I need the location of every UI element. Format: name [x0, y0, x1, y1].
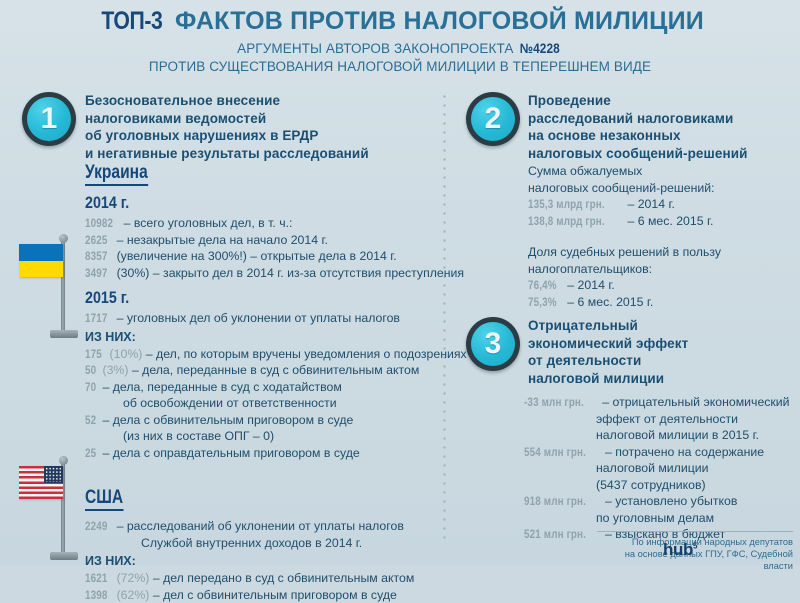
page-title: ТОП-3 ФАКТОВ ПРОТИВ НАЛОГОВОЙ МИЛИЦИИ — [0, 6, 800, 36]
data-row: 918 млн грн. – установлено убытков — [524, 493, 796, 510]
badge-2-number: 2 — [485, 104, 502, 134]
row-text: Службой внутренних доходов в 2014 г. — [141, 536, 362, 550]
data-row: 52 – дела с обвинительным приговором в с… — [85, 412, 435, 429]
usa-flag — [14, 460, 84, 565]
section-3-heading: Отрицательный экономический эффект от де… — [528, 317, 793, 387]
hub-logo-text: hub — [663, 540, 693, 559]
year-label-2015: 2015 г. — [85, 288, 129, 308]
row-key: 70 — [85, 379, 96, 396]
lead-line: Доля судебных решений в пользу — [528, 244, 793, 261]
section-1-heading-line-3: об уголовных нарушениях в ЕРДР — [85, 127, 435, 145]
flag-finial — [59, 234, 68, 243]
lead-line: налоговых сообщений-решений: — [528, 180, 793, 197]
data-row: 76,4% – 2014 г. — [528, 277, 793, 294]
of-which-label: ИЗ НИХ: — [85, 329, 435, 345]
row-key: 138,8 млрд грн. — [528, 213, 605, 230]
us-stars — [45, 467, 62, 482]
row-text: налоговой милиции — [596, 461, 709, 475]
ukraine-block: Украина 2014 г. 10982 – всего уголовных … — [85, 162, 435, 461]
lead-line: налогоплательщиков: — [528, 261, 793, 278]
row-text: – дела с оправдательным приговором в суд… — [103, 446, 360, 460]
row-text: – 6 мес. 2015 г. — [627, 214, 713, 228]
data-row: 1621 (72%) – дел передано в суд с обвини… — [85, 570, 435, 587]
ukraine-flag-cloth — [19, 244, 63, 277]
hub-logo[interactable]: hub5 — [663, 540, 697, 560]
data-row: 50 (3%) – дела, переданные в суд с обвин… — [85, 362, 435, 379]
ua-yellow-band — [19, 261, 63, 278]
flag-stand — [50, 552, 78, 560]
of-which-label: ИЗ НИХ: — [85, 553, 435, 569]
header: ТОП-3 ФАКТОВ ПРОТИВ НАЛОГОВОЙ МИЛИЦИИ АР… — [0, 6, 800, 74]
row-text: (5437 сотрудников) — [596, 478, 706, 492]
row-key: 75,3% — [528, 294, 557, 311]
footer-divider — [597, 531, 793, 532]
country-label-ukraine: Украина — [85, 162, 148, 186]
row-text: – незакрытые дела на начало 2014 г. — [117, 233, 328, 247]
title-accent: ТОП-3 — [101, 6, 162, 36]
row-text: – дела, переданные в суд с ходатайством — [103, 380, 342, 394]
row-key: 3497 — [85, 265, 108, 282]
row-key: 521 млн грн. — [524, 526, 586, 543]
data-row: 138,8 млрд грн. – 6 мес. 2015 г. — [528, 213, 793, 230]
row-key: 52 — [85, 412, 96, 429]
section-1-heading-line-2: налоговиками ведомостей — [85, 110, 435, 128]
section-2-heading-line-4: налоговых сообщений-решений — [528, 145, 793, 163]
data-row: 3497 (30%) – закрыто дел в 2014 г. из-за… — [85, 265, 435, 282]
row-key: 554 млн грн. — [524, 444, 586, 461]
section-2-heading-line-2: расследований налоговиками — [528, 110, 793, 128]
data-row: 2249 – расследований об уклонении от упл… — [85, 518, 435, 535]
section-1-heading: Безосновательное внесение налоговиками в… — [85, 92, 435, 162]
flag-finial — [59, 456, 68, 465]
section-1-heading-line-4: и негативные результаты расследований — [85, 145, 435, 163]
row-key: -33 млн грн. — [524, 394, 584, 411]
section-1-heading-line-1: Безосновательное внесение — [85, 92, 435, 110]
row-key: 2625 — [85, 232, 108, 249]
row-text: – установлено убытков — [605, 494, 737, 508]
row-key: 25 — [85, 445, 96, 462]
data-row: 1717 – уголовных дел об уклонении от упл… — [85, 310, 435, 327]
row-key: 1398 — [85, 587, 108, 603]
subtitle-1-text: АРГУМЕНТЫ АВТОРОВ ЗАКОНОПРОЕКТА — [237, 41, 513, 56]
row-text: эффект от деятельности — [596, 412, 738, 426]
row-key: 1717 — [85, 310, 108, 327]
title-rest: ФАКТОВ ПРОТИВ НАЛОГОВОЙ МИЛИЦИИ — [175, 7, 704, 35]
row-text: (из них в составе ОПГ – 0) — [123, 429, 274, 443]
row-text: – дел с обвинительным приговором в суде — [153, 588, 397, 602]
row-text: – потрачено на содержание — [605, 445, 764, 459]
data-row-cont: налоговой милиции — [524, 460, 796, 477]
row-text: – уголовных дел об уклонении от уплаты н… — [117, 311, 400, 325]
data-row-cont: (5437 сотрудников) — [524, 477, 796, 494]
data-row-cont: (из них в составе ОПГ – 0) — [85, 428, 435, 445]
column-divider — [443, 92, 446, 544]
section-3-heading-line-2: экономический эффект — [528, 335, 793, 353]
row-text: – дел передано в суд с обвинительным акт… — [153, 571, 415, 585]
section-2-heading-line-3: на основе незаконных — [528, 127, 793, 145]
data-row: 10982 – всего уголовных дел, в т. ч.: — [85, 215, 435, 232]
row-pct: (72%) — [117, 571, 150, 585]
usa-block: США 2249 – расследований об уклонении от… — [85, 487, 435, 603]
data-row: 1398 (62%) – дел с обвинительным пригово… — [85, 587, 435, 603]
data-row-cont: об освобождении от ответственности — [85, 395, 435, 412]
infographic-page: ТОП-3 ФАКТОВ ПРОТИВ НАЛОГОВОЙ МИЛИЦИИ АР… — [0, 0, 800, 565]
row-key: 2249 — [85, 518, 108, 535]
lead-line: Сумма обжалуемых — [528, 163, 793, 180]
subtitle-line-1: АРГУМЕНТЫ АВТОРОВ ЗАКОНОПРОЕКТА №4228 — [0, 41, 800, 56]
data-row: 75,3% – 6 мес. 2015 г. — [528, 294, 793, 311]
hub-logo-sup: 5 — [693, 541, 697, 550]
data-row: 175 (10%) – дел, по которым вручены увед… — [85, 346, 435, 363]
row-text: – дел, по которым вручены уведомления о … — [146, 347, 467, 361]
badge-1: 1 — [22, 92, 76, 146]
section-3-heading-line-3: от деятельности — [528, 352, 793, 370]
ukraine-flag — [14, 238, 84, 343]
data-row: -33 млн грн. – отрицательный экономическ… — [524, 394, 796, 411]
row-key: 8357 — [85, 248, 108, 265]
left-column: Украина 2014 г. 10982 – всего уголовных … — [85, 162, 435, 603]
badge-3: 3 — [466, 317, 520, 371]
data-row: 8357 (увеличение на 300%!) – открытые де… — [85, 248, 435, 265]
row-text: – расследований об уклонении от уплаты н… — [117, 519, 404, 533]
row-key: 76,4% — [528, 277, 557, 294]
row-text: – всего уголовных дел, в т. ч.: — [124, 216, 293, 230]
data-row-cont: налоговой милиции в 2015 г. — [524, 427, 796, 444]
row-key: 918 млн грн. — [524, 493, 586, 510]
row-text: по уголовным делам — [596, 511, 714, 525]
subtitle-line-2: ПРОТИВ СУЩЕСТВОВАНИЯ НАЛОГОВОЙ МИЛИЦИИ В… — [0, 59, 800, 74]
row-text: – 2014 г. — [567, 278, 614, 292]
row-key: 10982 — [85, 215, 113, 232]
spacer — [85, 461, 435, 487]
data-row-cont: Службой внутренних доходов в 2014 г. — [85, 535, 435, 552]
row-pct: (10%) — [110, 347, 143, 361]
data-row: 135,3 млрд грн. – 2014 г. — [528, 196, 793, 213]
row-text: налоговой милиции в 2015 г. — [596, 428, 759, 442]
row-key: 50 — [85, 362, 96, 379]
badge-2: 2 — [466, 92, 520, 146]
badge-3-number: 3 — [485, 329, 502, 359]
row-pct: (3%) — [103, 363, 129, 377]
row-text: – отрицательный экономический — [602, 395, 789, 409]
row-text: (30%) – закрыто дел в 2014 г. из-за отсу… — [117, 266, 465, 280]
ua-blue-band — [19, 244, 63, 261]
section-3-heading-line-1: Отрицательный — [528, 317, 793, 335]
row-text: (увеличение на 300%!) – открытые дела в … — [117, 249, 397, 263]
data-row: 70 – дела, переданные в суд с ходатайств… — [85, 379, 435, 396]
data-row: 25 – дела с оправдательным приговором в … — [85, 445, 435, 462]
row-text: об освобождении от ответственности — [123, 396, 337, 410]
flag-stand — [50, 330, 78, 338]
bill-number: №4228 — [520, 41, 560, 56]
section-3-body: -33 млн грн. – отрицательный экономическ… — [524, 394, 796, 543]
row-text: – дела, переданные в суд с обвинительным… — [132, 363, 419, 377]
row-key: 1621 — [85, 570, 108, 587]
section-2-body: Сумма обжалуемых налоговых сообщений-реш… — [528, 163, 793, 310]
data-row-cont: эффект от деятельности — [524, 411, 796, 428]
data-row-cont: по уголовным делам — [524, 510, 796, 527]
spacer — [528, 229, 793, 244]
usa-flag-cloth — [19, 466, 63, 499]
row-key: 175 — [85, 346, 102, 363]
row-key: 135,3 млрд грн. — [528, 196, 605, 213]
data-row: 2625 – незакрытые дела на начало 2014 г. — [85, 232, 435, 249]
section-2-heading: Проведение расследований налоговиками на… — [528, 92, 793, 162]
row-pct: (62%) — [117, 588, 150, 602]
row-text: – 2014 г. — [627, 197, 674, 211]
section-2-heading-line-1: Проведение — [528, 92, 793, 110]
country-label-usa: США — [85, 487, 123, 511]
year-label-2014: 2014 г. — [85, 193, 129, 213]
section-3-heading-line-4: налоговой милиции — [528, 370, 793, 388]
row-text: – дела с обвинительным приговором в суде — [103, 413, 354, 427]
badge-1-number: 1 — [41, 104, 58, 134]
row-text: – 6 мес. 2015 г. — [567, 295, 653, 309]
data-row: 554 млн грн. – потрачено на содержание — [524, 444, 796, 461]
us-canton — [44, 466, 63, 483]
